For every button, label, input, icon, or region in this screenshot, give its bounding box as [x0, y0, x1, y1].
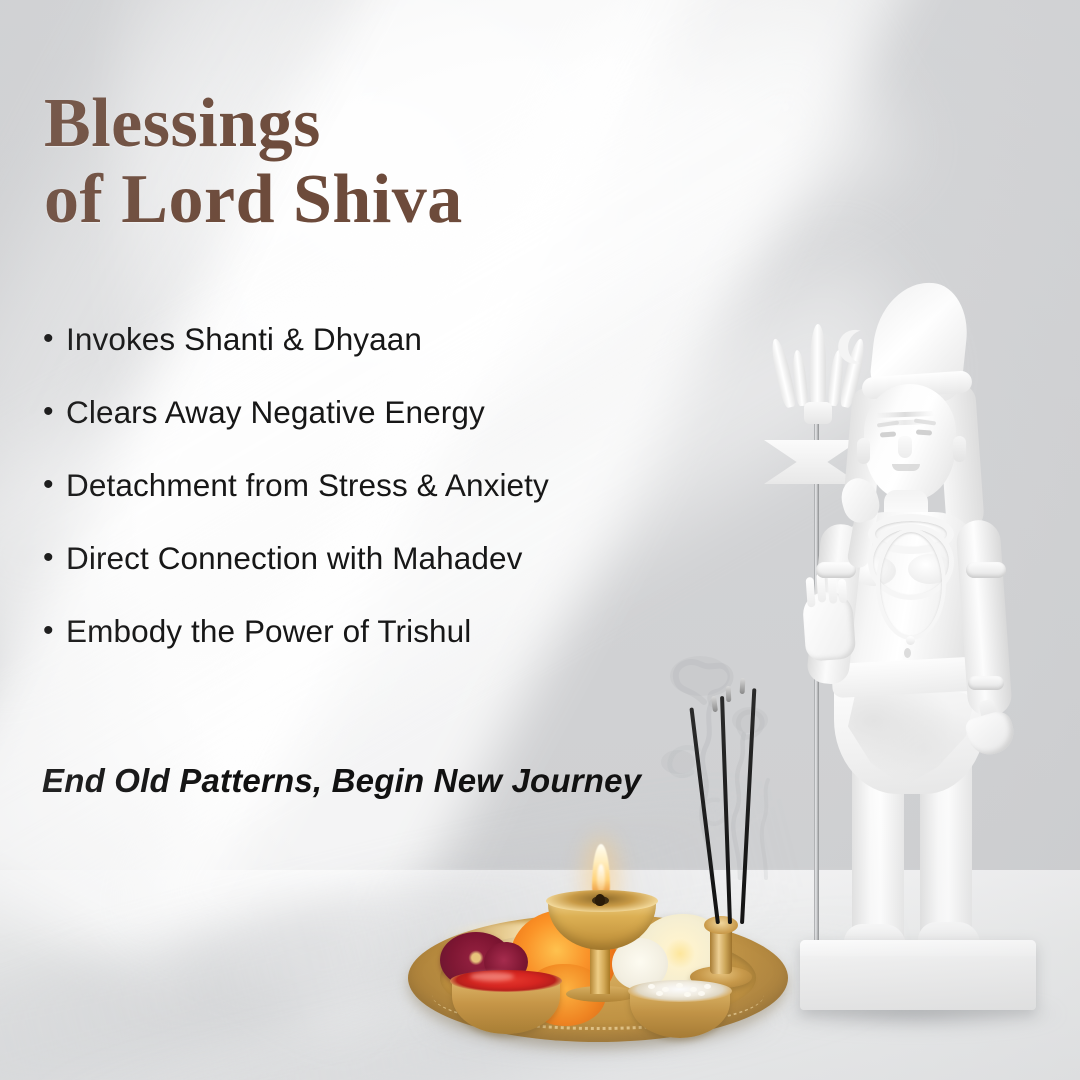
vignette-overlay	[0, 0, 1080, 1080]
shiva-blessings-poster: Blessings of Lord Shiva • Invokes Shanti…	[0, 0, 1080, 1080]
